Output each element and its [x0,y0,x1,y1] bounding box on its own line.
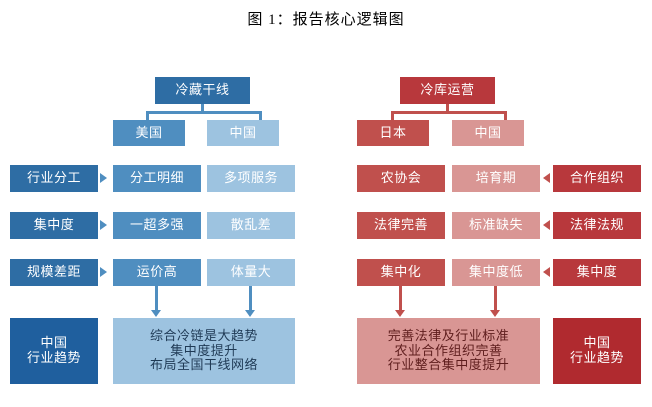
right-row-0-arrow [543,173,550,183]
right-summary-connector-jp [399,286,402,312]
right-row-0-cn: 培育期 [452,165,540,192]
left-summary-text: 综合冷链是大趋势 集中度提升 布局全国干线网络 [113,318,295,384]
right-row-2-label: 集中度 [553,259,641,286]
right-row-1-label: 法律法规 [553,212,641,239]
left-summary-arrow-us [151,310,161,317]
right-branch-left-stub [391,111,394,120]
right-row-0-jp: 农协会 [357,165,445,192]
left-summary-label: 中国 行业趋势 [10,318,98,384]
right-branch-jp: 日本 [357,120,429,146]
right-row-2-jp: 集中化 [357,259,445,286]
right-row-1-arrow [543,220,550,230]
right-summary-arrow-cn [490,310,500,317]
left-row-0-arrow [100,173,107,183]
left-row-0-label: 行业分工 [10,165,98,192]
left-branch-right-stub [259,111,262,120]
right-row-2-arrow [543,267,550,277]
left-row-2-us: 运价高 [113,259,201,286]
right-row-1-jp: 法律完善 [357,212,445,239]
right-row-1-cn: 标准缺失 [452,212,540,239]
right-root-box: 冷库运营 [400,77,495,104]
right-branch-bar [391,111,507,114]
left-branch-left-stub [146,111,149,120]
figure-title: 图 1：报告核心逻辑图 [0,8,652,29]
left-summary-arrow-cn [245,310,255,317]
left-row-1-arrow [100,220,107,230]
left-row-0-us: 分工明细 [113,165,201,192]
right-summary-text: 完善法律及行业标准 农业合作组织完善 行业整合集中度提升 [357,318,540,384]
left-row-1-us: 一超多强 [113,212,201,239]
left-row-2-cn: 体量大 [207,259,295,286]
right-summary-arrow-jp [395,310,405,317]
right-row-0-label: 合作组织 [553,165,641,192]
right-summary-connector-cn [494,286,497,312]
left-row-1-label: 集中度 [10,212,98,239]
left-root-box: 冷藏干线 [155,77,250,104]
left-row-2-arrow [100,267,107,277]
left-row-0-cn: 多项服务 [207,165,295,192]
right-branch-cn: 中国 [452,120,524,146]
left-summary-connector-cn [249,286,252,312]
left-row-2-label: 规模差距 [10,259,98,286]
left-branch-cn: 中国 [207,120,279,146]
left-summary-connector-us [155,286,158,312]
right-summary-label: 中国 行业趋势 [553,318,641,384]
right-row-2-cn: 集中度低 [452,259,540,286]
diagram-canvas: 图 1：报告核心逻辑图 冷藏干线 美国 中国 行业分工 分工明细 多项服务 集中… [0,0,652,407]
right-branch-right-stub [504,111,507,120]
left-branch-us: 美国 [113,120,185,146]
left-row-1-cn: 散乱差 [207,212,295,239]
left-branch-bar [146,111,262,114]
